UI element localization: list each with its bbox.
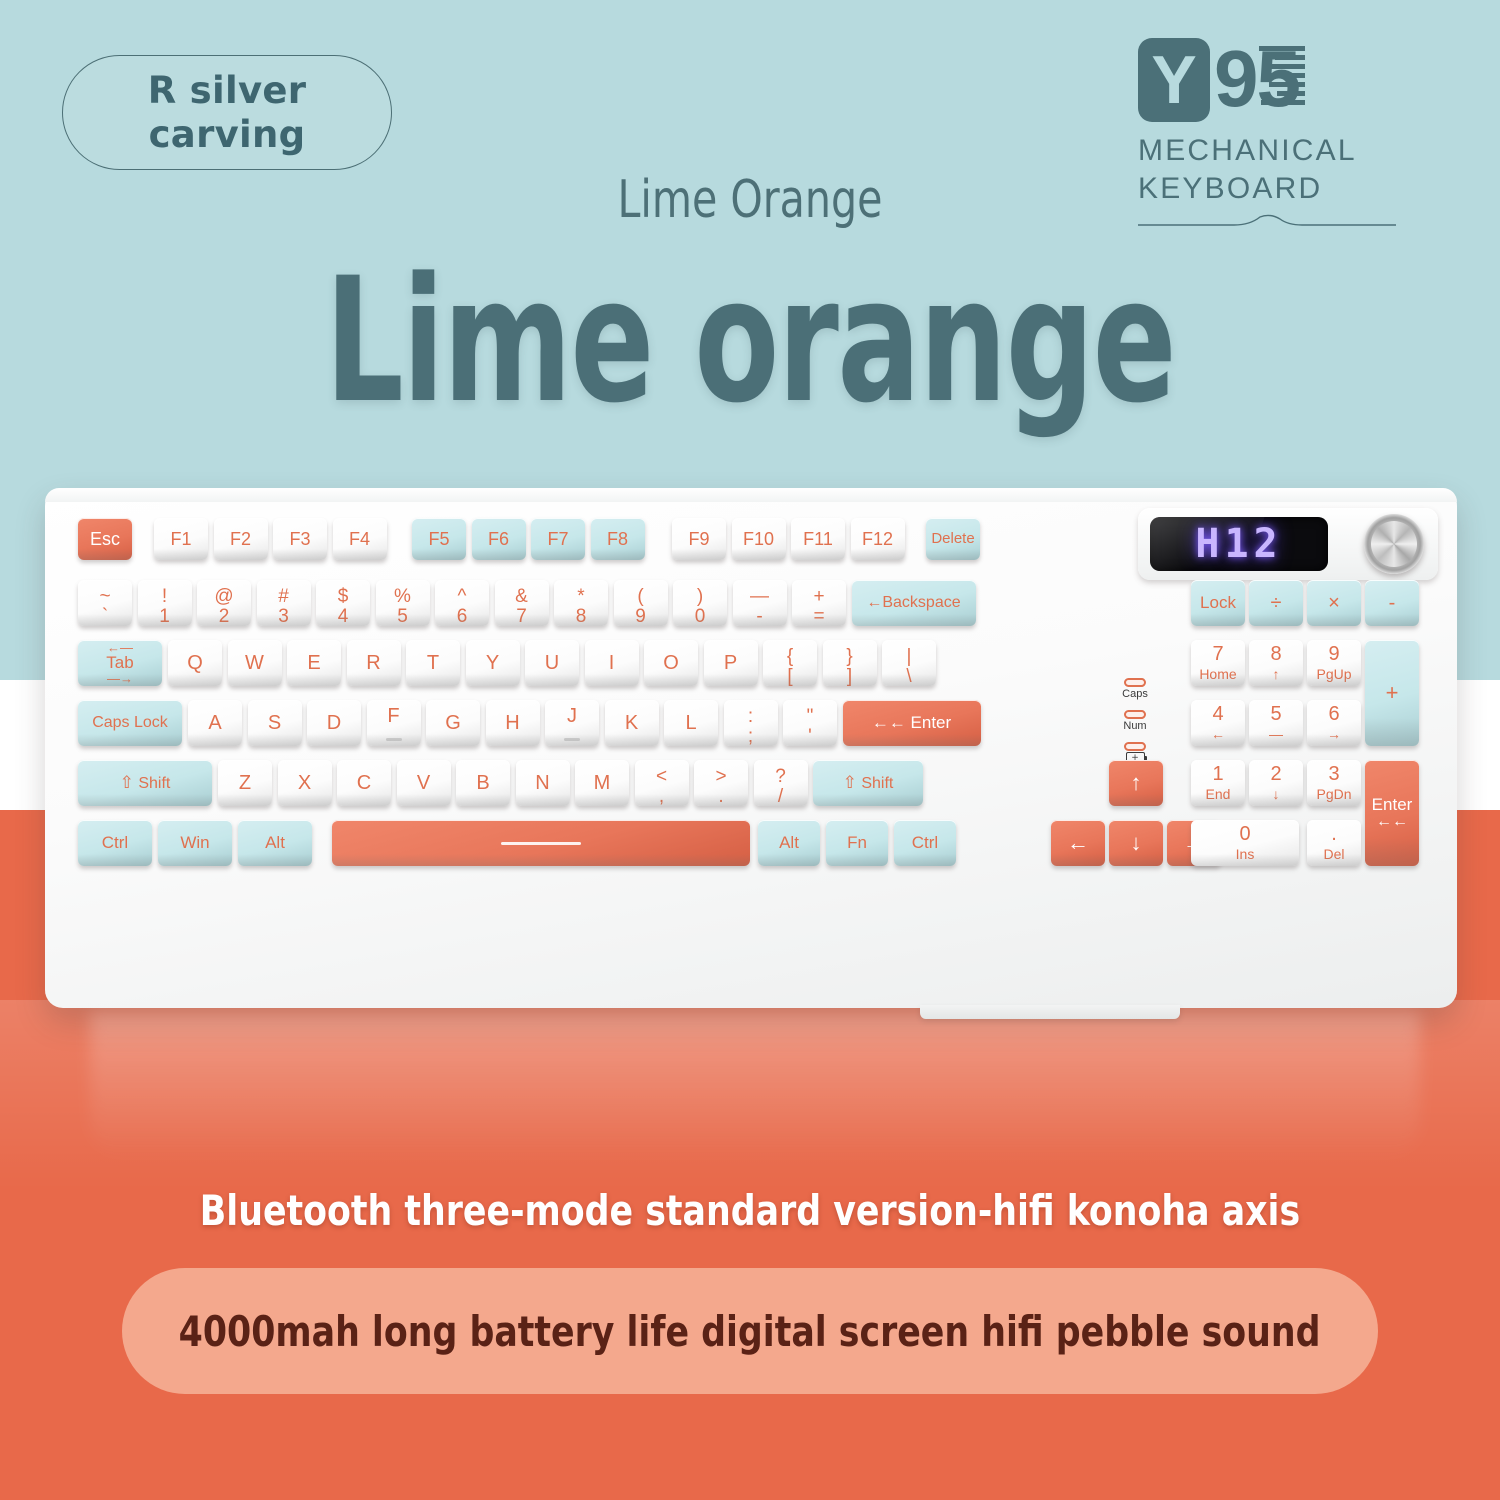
key-legend-top: ?	[775, 767, 786, 787]
key-legend-main: Y	[486, 653, 499, 674]
key-legend-main: G	[445, 713, 461, 734]
key-legend-bottom: 9	[635, 607, 646, 626]
key-legend-main: Delete	[931, 531, 974, 547]
key-legend: V	[397, 760, 451, 806]
key-legend: L	[664, 700, 718, 746]
key-ctrl-right[interactable]: Ctrl	[894, 820, 956, 866]
key-m[interactable]: M	[575, 760, 629, 806]
key-legend-top: !	[162, 587, 167, 607]
key-legend: 9PgUp	[1307, 640, 1361, 686]
key-legend-main: F9	[688, 530, 709, 549]
logo-subtitle-1: MECHANICAL	[1138, 134, 1408, 168]
key-legend-main: J	[567, 706, 577, 727]
key-legend: ←Backspace	[852, 580, 976, 626]
key-legend-bottom: 4	[338, 607, 349, 626]
key-legend: F4	[333, 518, 387, 560]
key-legend-main: Esc	[90, 530, 120, 549]
key-numpad-key[interactable]: -	[1365, 580, 1419, 626]
key-legend-top: %	[394, 587, 411, 607]
key-legend-main: +	[1386, 681, 1399, 704]
key-f1[interactable]: F1	[154, 518, 208, 560]
key-key[interactable]: —-	[733, 580, 787, 626]
key-legend-main: F6	[488, 530, 509, 549]
key-legend: J	[545, 700, 599, 746]
key-alt-right[interactable]: Alt	[758, 820, 820, 866]
key-7[interactable]: &7	[495, 580, 549, 626]
key-legend-top: +	[813, 587, 824, 607]
key-legend: H	[486, 700, 540, 746]
key-b[interactable]: B	[456, 760, 510, 806]
key-legend-main: I	[609, 653, 615, 674]
key-numpad-key[interactable]: ×	[1307, 580, 1361, 626]
key-legend-sub: PgDn	[1316, 787, 1351, 802]
key-legend: Delete	[926, 518, 980, 560]
key-slash[interactable]: ?/	[754, 760, 808, 806]
key-legend-main: 4	[1212, 704, 1223, 725]
key-legend-main: ←	[1067, 831, 1089, 854]
key-legend: 4←	[1191, 700, 1245, 746]
brand-logo: Y 95 MECHANICAL KEYBOARD	[1138, 38, 1408, 232]
key-legend-main: K	[625, 713, 638, 734]
key-legend: F6	[472, 518, 526, 560]
key-numpad-enter[interactable]: Enter←←	[1365, 760, 1419, 866]
key-legend-main: 0	[1239, 824, 1250, 845]
key-legend-main: ÷	[1271, 593, 1282, 614]
key-legend-top: &	[515, 587, 528, 607]
key-comma[interactable]: <,	[635, 760, 689, 806]
key-legend-top: {	[787, 647, 793, 667]
key-9[interactable]: (9	[614, 580, 668, 626]
key-r[interactable]: R	[347, 640, 401, 686]
key-legend-main: F2	[230, 530, 251, 549]
key-delete[interactable]: Delete	[926, 518, 980, 560]
key-numpad-3-pgdn[interactable]: 3PgDn	[1307, 760, 1361, 806]
key-l[interactable]: L	[664, 700, 718, 746]
key-legend-main: Lock	[1200, 594, 1236, 612]
key-legend: ⇧ Shift	[78, 760, 212, 806]
key-legend-sub: Home	[1199, 667, 1236, 682]
key-legend: Fn	[826, 820, 888, 866]
key-k[interactable]: K	[605, 700, 659, 746]
key-c[interactable]: C	[337, 760, 391, 806]
key-legend-bottom: \	[906, 667, 911, 686]
key-legend-main: M	[594, 773, 611, 794]
logo-wordmark: Y 95	[1138, 38, 1408, 130]
key-legend: Alt	[238, 820, 312, 866]
key-legend-top: "	[807, 707, 814, 727]
key-legend-main: ←—Tab—→	[106, 641, 133, 685]
key-legend-sub: →	[1327, 727, 1341, 742]
key-legend-bottom: .	[718, 787, 723, 806]
key-arrow-up[interactable]: ↑	[1109, 760, 1163, 806]
key-numpad-plus[interactable]: +	[1365, 640, 1419, 746]
key-legend-top: }	[846, 647, 852, 667]
key-legend: U	[525, 640, 579, 686]
key-numpad-0-ins[interactable]: 0Ins	[1191, 820, 1299, 866]
key-legend-main: .	[1331, 824, 1337, 845]
key-numpad-8[interactable]: 8↑	[1249, 640, 1303, 686]
key-a[interactable]: A	[188, 700, 242, 746]
key-s[interactable]: S	[248, 700, 302, 746]
key-f3[interactable]: F3	[273, 518, 327, 560]
key-legend-main: F	[387, 706, 399, 727]
key-legend-main: U	[545, 653, 559, 674]
key-legend: S	[248, 700, 302, 746]
key-2[interactable]: @2	[197, 580, 251, 626]
key-legend: ↑	[1109, 760, 1163, 806]
key-semicolon[interactable]: :;	[724, 700, 778, 746]
key-legend-main: O	[663, 653, 679, 674]
key-legend-bottom: `	[102, 607, 108, 626]
key-d[interactable]: D	[307, 700, 361, 746]
key-e[interactable]: E	[287, 640, 341, 686]
key-w[interactable]: W	[228, 640, 282, 686]
key-legend: Alt	[758, 820, 820, 866]
key-legend: (9	[614, 580, 668, 626]
key-legend-top: ~	[99, 587, 110, 607]
key-legend: )0	[673, 580, 727, 626]
key-legend: ×	[1307, 580, 1361, 626]
key-legend-top: @	[214, 587, 233, 607]
key-legend: F	[367, 700, 421, 746]
key-legend-main: V	[417, 773, 430, 794]
key-legend-main: 9	[1328, 644, 1339, 665]
key-shift-right[interactable]: ⇧ Shift	[813, 760, 923, 806]
key-legend-main: A	[208, 713, 221, 734]
footer-feature-pill-text: 4000mah long battery life digital screen…	[179, 1307, 1321, 1356]
key-legend-main: 2	[1270, 764, 1281, 785]
key-legend: <,	[635, 760, 689, 806]
key-legend-main: Ctrl	[102, 834, 128, 852]
key-legend: F5	[412, 518, 466, 560]
key-legend-main: D	[327, 713, 341, 734]
key-legend-top: :	[748, 707, 753, 727]
key-legend: ?/	[754, 760, 808, 806]
key-legend: Y	[466, 640, 520, 686]
key-5[interactable]: %5	[376, 580, 430, 626]
key-f9[interactable]: F9	[672, 518, 726, 560]
key-legend: F2	[214, 518, 268, 560]
key-legend-top: |	[907, 647, 912, 667]
key-legend: ←	[1051, 820, 1105, 866]
key-legend-main: P	[724, 653, 737, 674]
key-legend-main: H	[505, 713, 519, 734]
key-numpad-4[interactable]: 4←	[1191, 700, 1245, 746]
badge-line-2: carving	[149, 113, 306, 157]
key-quote[interactable]: "'	[783, 700, 837, 746]
key-legend: :;	[724, 700, 778, 746]
key-arrow-left[interactable]: ←	[1051, 820, 1105, 866]
key-legend-main: 5	[1270, 704, 1281, 725]
homing-bar-icon	[564, 738, 580, 741]
key-numpad-1-end[interactable]: 1End	[1191, 760, 1245, 806]
key-legend-bottom: ,	[659, 787, 664, 806]
key-legend: —-	[733, 580, 787, 626]
key-legend-bottom: 1	[159, 607, 170, 626]
key-n[interactable]: N	[516, 760, 570, 806]
key-f8[interactable]: F8	[591, 518, 645, 560]
key-legend: I	[585, 640, 639, 686]
key-f5[interactable]: F5	[412, 518, 466, 560]
key-legend-main: F11	[803, 530, 833, 549]
key-legend: .Del	[1307, 820, 1361, 866]
key-t[interactable]: T	[406, 640, 460, 686]
key-z[interactable]: Z	[218, 760, 272, 806]
key-legend-bottom: '	[808, 727, 812, 746]
key-legend: Lock	[1191, 580, 1245, 626]
key-legend: 6→	[1307, 700, 1361, 746]
key-h[interactable]: H	[486, 700, 540, 746]
key-legend: Enter←←	[1365, 760, 1419, 866]
key-numpad-9-pgup[interactable]: 9PgUp	[1307, 640, 1361, 686]
key-o[interactable]: O	[644, 640, 698, 686]
key-key[interactable]: ~`	[78, 580, 132, 626]
key-legend: 2↓	[1249, 760, 1303, 806]
key-y[interactable]: Y	[466, 640, 520, 686]
key-legend: A	[188, 700, 242, 746]
key-8[interactable]: *8	[554, 580, 608, 626]
key-legend: $4	[316, 580, 370, 626]
key-legend-main: ⇧ Shift	[120, 774, 171, 793]
key-legend-main: R	[366, 653, 380, 674]
key-f[interactable]: F	[367, 700, 421, 746]
key-legend: B	[456, 760, 510, 806]
key-f7[interactable]: F7	[531, 518, 585, 560]
keyboard-foot	[920, 1005, 1180, 1019]
key-legend-main: C	[357, 773, 371, 794]
key-3[interactable]: #3	[257, 580, 311, 626]
key-f4[interactable]: F4	[333, 518, 387, 560]
key-legend: F11	[791, 518, 845, 560]
key-legend: "'	[783, 700, 837, 746]
key-backslash[interactable]: |\	[882, 640, 936, 686]
key-numpad-2[interactable]: 2↓	[1249, 760, 1303, 806]
key-shift-left[interactable]: ⇧ Shift	[78, 760, 212, 806]
key-alt-left[interactable]: Alt	[238, 820, 312, 866]
key-legend: D	[307, 700, 361, 746]
key-legend-bottom: [	[787, 667, 792, 686]
key-legend-bottom: 8	[576, 607, 587, 626]
key-numpad-key[interactable]: ÷	[1249, 580, 1303, 626]
key-legend-main: 6	[1328, 704, 1339, 725]
key-f6[interactable]: F6	[472, 518, 526, 560]
key-legend-top: $	[338, 587, 349, 607]
key-legend-main: ↓	[1131, 831, 1142, 854]
key-legend: P	[704, 640, 758, 686]
key-legend: #3	[257, 580, 311, 626]
key-legend: F12	[851, 518, 905, 560]
key-i[interactable]: I	[585, 640, 639, 686]
key-legend-main: Win	[180, 834, 209, 852]
key-legend-top: >	[715, 767, 726, 787]
key-legend-top: *	[577, 587, 584, 607]
key-legend: W	[228, 640, 282, 686]
key-numpad-lock[interactable]: Lock	[1191, 580, 1245, 626]
key-g[interactable]: G	[426, 700, 480, 746]
key-legend-sub: ↑	[1273, 667, 1280, 682]
key-legend: Caps Lock	[78, 700, 182, 746]
key-legend-main: S	[268, 713, 281, 734]
key-legend: ~`	[78, 580, 132, 626]
key-legend-sub: Del	[1323, 847, 1344, 862]
key-legend: Q	[168, 640, 222, 686]
logo-subtitle-2: KEYBOARD	[1138, 172, 1408, 206]
key-legend: &7	[495, 580, 549, 626]
key-numpad-5[interactable]: 5—	[1249, 700, 1303, 746]
key-legend-top: (	[637, 587, 643, 607]
key-u[interactable]: U	[525, 640, 579, 686]
key-win-left[interactable]: Win	[158, 820, 232, 866]
key-legend-bottom: 7	[516, 607, 527, 626]
key-legend: F8	[591, 518, 645, 560]
key-legend: Ctrl	[894, 820, 956, 866]
key-legend: 5—	[1249, 700, 1303, 746]
key-key[interactable]: }]	[823, 640, 877, 686]
key-p[interactable]: P	[704, 640, 758, 686]
key-legend-main: Z	[239, 773, 251, 794]
logo-underline-flourish-icon	[1138, 214, 1396, 228]
key-spacebar[interactable]	[332, 820, 750, 866]
key-legend-main: -	[1389, 593, 1396, 614]
key-legend-sub: PgUp	[1316, 667, 1351, 682]
footer-feature-pill: 4000mah long battery life digital screen…	[122, 1268, 1378, 1394]
key-plate: EscF1F2F3F4F5F6F7F8F9F10F11F12Delete~`!1…	[45, 488, 1457, 1008]
key-1[interactable]: !1	[138, 580, 192, 626]
key-legend-main: T	[427, 653, 439, 674]
key-x[interactable]: X	[278, 760, 332, 806]
key-legend-sub: ↓	[1273, 787, 1280, 802]
key-legend: G	[426, 700, 480, 746]
key-legend-main: ↑	[1131, 771, 1142, 794]
key-legend: !1	[138, 580, 192, 626]
key-legend-main: 7	[1212, 644, 1223, 665]
key-legend-main: F8	[607, 530, 628, 549]
key-legend: >.	[694, 760, 748, 806]
key-legend: C	[337, 760, 391, 806]
key-legend-top: —	[750, 587, 769, 607]
key-legend-main: ←← Enter	[872, 714, 951, 732]
key-legend: X	[278, 760, 332, 806]
key-legend: ←—Tab—→	[78, 640, 162, 686]
key-legend-main: X	[298, 773, 311, 794]
key-legend: O	[644, 640, 698, 686]
key-numpad-6[interactable]: 6→	[1307, 700, 1361, 746]
key-backspace[interactable]: ←Backspace	[852, 580, 976, 626]
key-legend-bottom: /	[778, 787, 783, 806]
key-legend-main: F4	[349, 530, 370, 549]
key-legend-main: Alt	[265, 834, 285, 852]
key-4[interactable]: $4	[316, 580, 370, 626]
homing-bar-icon	[386, 738, 402, 741]
key-legend-sub: ←	[1211, 727, 1225, 742]
key-legend: T	[406, 640, 460, 686]
key-legend: %5	[376, 580, 430, 626]
key-v[interactable]: V	[397, 760, 451, 806]
key-tab[interactable]: ←—Tab—→	[78, 640, 162, 686]
key-legend-main: E	[307, 653, 320, 674]
key-legend: +=	[792, 580, 846, 626]
key-legend-bottom: =	[813, 607, 824, 626]
key-legend-bottom: 5	[397, 607, 408, 626]
key-legend: ⇧ Shift	[813, 760, 923, 806]
key-legend: K	[605, 700, 659, 746]
key-legend-main: F5	[428, 530, 449, 549]
key-legend-sub: Ins	[1236, 847, 1255, 862]
key-legend: N	[516, 760, 570, 806]
key-legend: |\	[882, 640, 936, 686]
key-legend: ^6	[435, 580, 489, 626]
key-fn-right[interactable]: Fn	[826, 820, 888, 866]
keyboard-body: H12 Caps Num + EscF1F2F3F4F5F6F7F8F9F10F…	[45, 488, 1457, 1008]
key-legend	[332, 820, 750, 866]
key-legend-main: 1	[1212, 764, 1223, 785]
key-legend: Esc	[78, 518, 132, 560]
key-legend: {[	[763, 640, 817, 686]
key-legend-main: Ctrl	[912, 834, 938, 852]
key-legend-bottom: 0	[695, 607, 706, 626]
key-legend-sub: —	[1269, 727, 1283, 742]
key-key[interactable]: +=	[792, 580, 846, 626]
key-numpad-7-home[interactable]: 7Home	[1191, 640, 1245, 686]
key-period[interactable]: >.	[694, 760, 748, 806]
key-legend-top: <	[656, 767, 667, 787]
footer-headline: Bluetooth three-mode standard version-hi…	[60, 1186, 1440, 1235]
key-legend-main: F7	[547, 530, 568, 549]
page-title: Lime orange	[150, 255, 1350, 427]
key-6[interactable]: ^6	[435, 580, 489, 626]
key-legend-main: N	[535, 773, 549, 794]
key-f10[interactable]: F10	[732, 518, 786, 560]
key-legend-main: ←Backspace	[866, 595, 960, 612]
logo-number: 95	[1214, 38, 1299, 120]
key-legend: R	[347, 640, 401, 686]
key-caps-lock[interactable]: Caps Lock	[78, 700, 182, 746]
key-key[interactable]: {[	[763, 640, 817, 686]
key-legend: ←← Enter	[843, 700, 981, 746]
key-q[interactable]: Q	[168, 640, 222, 686]
key-legend-main: F10	[743, 530, 774, 549]
key-esc[interactable]: Esc	[78, 518, 132, 560]
key-legend-main: Q	[187, 653, 203, 674]
key-0[interactable]: )0	[673, 580, 727, 626]
key-legend-main: W	[245, 653, 264, 674]
key-legend-bottom: ]	[847, 667, 852, 686]
key-enter[interactable]: ←← Enter	[843, 700, 981, 746]
key-legend: Z	[218, 760, 272, 806]
key-j[interactable]: J	[545, 700, 599, 746]
key-legend: *8	[554, 580, 608, 626]
key-ctrl-left[interactable]: Ctrl	[78, 820, 152, 866]
key-legend-main: ⇧ Shift	[843, 774, 894, 793]
key-legend: 1End	[1191, 760, 1245, 806]
key-arrow-down[interactable]: ↓	[1109, 820, 1163, 866]
key-f12[interactable]: F12	[851, 518, 905, 560]
key-f2[interactable]: F2	[214, 518, 268, 560]
key-legend-top: ^	[458, 587, 467, 607]
badge-line-1: R silver	[148, 69, 307, 113]
key-legend-main: Enter←←	[1372, 796, 1413, 831]
key-legend-main: ×	[1328, 593, 1340, 614]
key-legend: F1	[154, 518, 208, 560]
logo-glitch-stripes-icon	[1259, 44, 1305, 114]
key-legend-main: Caps Lock	[92, 715, 168, 732]
badge-silver-carving: R silver carving	[62, 55, 392, 170]
key-legend-main: 8	[1270, 644, 1281, 665]
key-f11[interactable]: F11	[791, 518, 845, 560]
key-numpad-period-del[interactable]: .Del	[1307, 820, 1361, 866]
key-legend-sub: End	[1206, 787, 1231, 802]
key-legend: F10	[732, 518, 786, 560]
